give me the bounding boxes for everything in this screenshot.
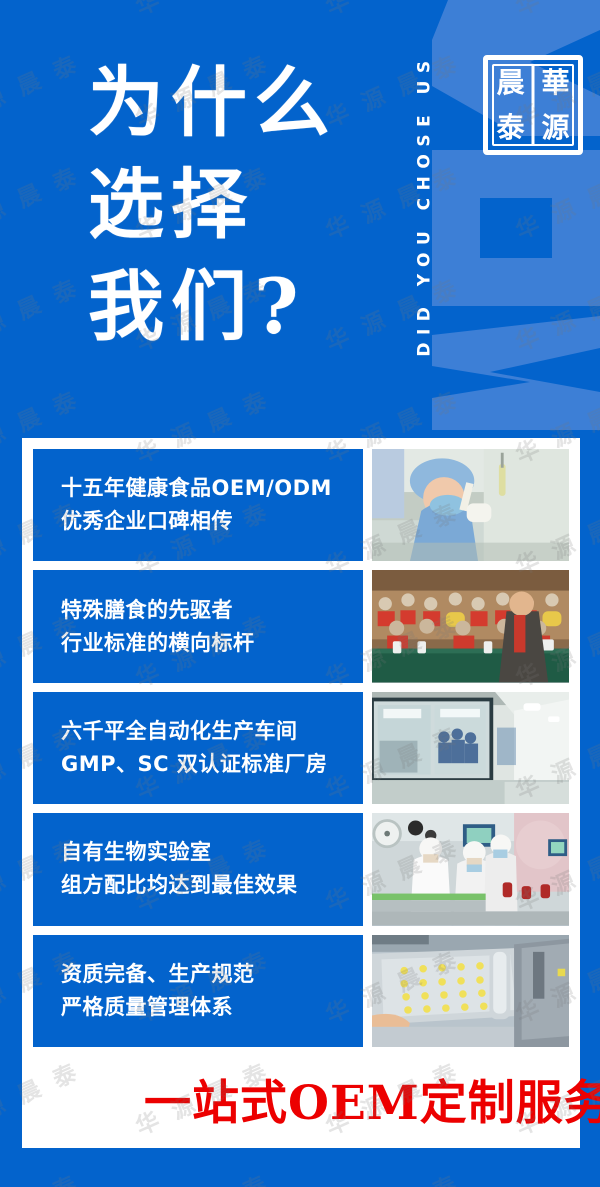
photo-lab-technician-pipette — [372, 449, 569, 561]
poster-header: 为什么 选择 我们? DID YOU CHOSE US 晨 華 泰 源 — [0, 0, 600, 438]
feature-card-text: 自有生物实验室 组方配比均达到最佳效果 — [33, 813, 363, 925]
feature-line: 组方配比均达到最佳效果 — [61, 869, 363, 902]
vertical-tagline: DID YOU CHOSE US — [408, 10, 442, 400]
seal-char-3: 泰 — [488, 105, 533, 150]
bottom-banner: 晨 華 泰 源 一站式OEM定制服务 — [22, 1058, 580, 1148]
bottom-banner-text: 一站式OEM定制服务 — [144, 1080, 600, 1127]
feature-card-text: 资质完备、生产规范 严格质量管理体系 — [33, 935, 363, 1047]
seal-char-2: 華 — [533, 60, 578, 105]
page-title-line-1: 为什么 — [88, 52, 337, 154]
feature-line: 优秀企业口碑相传 — [61, 505, 363, 538]
page-title: 为什么 选择 我们? — [88, 52, 337, 358]
feature-line: 十五年健康食品OEM/ODM — [61, 472, 363, 505]
feature-card: 资质完备、生产规范 严格质量管理体系 — [33, 935, 569, 1047]
feature-card: 十五年健康食品OEM/ODM 优秀企业口碑相传 — [33, 449, 569, 561]
feature-line: 自有生物实验室 — [61, 836, 363, 869]
content-frame: 十五年健康食品OEM/ODM 优秀企业口碑相传 — [22, 438, 580, 1058]
feature-line: 资质完备、生产规范 — [61, 958, 363, 991]
seal-frame: 晨 華 泰 源 — [483, 55, 583, 155]
feature-line: 特殊膳食的先驱者 — [61, 594, 363, 627]
poster-root: 为什么 选择 我们? DID YOU CHOSE US 晨 華 泰 源 十五年健… — [0, 0, 600, 1187]
seal-char-1: 晨 — [488, 60, 533, 105]
photo-production-line-workers — [372, 813, 569, 925]
photo-cleanroom-corridor — [372, 692, 569, 804]
feature-card: 特殊膳食的先驱者 行业标准的横向标杆 — [33, 570, 569, 682]
feature-line: GMP、SC 双认证标准厂房 — [61, 748, 363, 781]
photo-conference-audience — [372, 570, 569, 682]
page-title-line-3: 我们? — [88, 256, 337, 358]
feature-card-text: 特殊膳食的先驱者 行业标准的横向标杆 — [33, 570, 363, 682]
feature-card-text: 十五年健康食品OEM/ODM 优秀企业口碑相传 — [33, 449, 363, 561]
feature-card: 自有生物实验室 组方配比均达到最佳效果 — [33, 813, 569, 925]
photo-tablet-packaging-machine — [372, 935, 569, 1047]
bottom-blue-strip — [0, 1148, 600, 1187]
feature-card: 六千平全自动化生产车间 GMP、SC 双认证标准厂房 — [33, 692, 569, 804]
feature-line: 严格质量管理体系 — [61, 991, 363, 1024]
feature-card-list: 十五年健康食品OEM/ODM 优秀企业口碑相传 — [33, 449, 569, 1047]
feature-line: 行业标准的横向标杆 — [61, 627, 363, 660]
page-title-line-2: 选择 — [88, 154, 337, 256]
seal-char-4: 源 — [533, 105, 578, 150]
feature-card-text: 六千平全自动化生产车间 GMP、SC 双认证标准厂房 — [33, 692, 363, 804]
feature-line: 六千平全自动化生产车间 — [61, 715, 363, 748]
company-seal-white: 晨 華 泰 源 — [483, 55, 583, 155]
vertical-tagline-text: DID YOU CHOSE US — [415, 53, 435, 356]
